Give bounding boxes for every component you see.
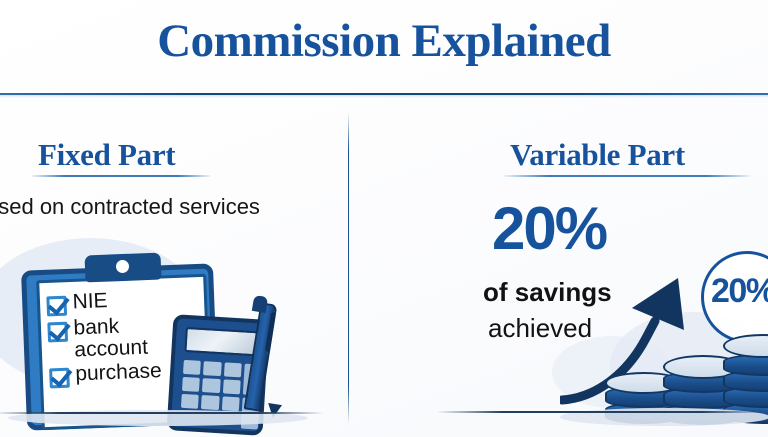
calculator-key — [223, 362, 241, 377]
variable-part-heading: Variable Part — [510, 137, 685, 173]
fixed-part-heading-underline — [32, 175, 210, 177]
calculator-key — [182, 377, 200, 392]
checklist-item-label: account — [74, 337, 148, 362]
checkbox-checked-icon[interactable] — [49, 368, 70, 389]
calculator-key — [201, 395, 219, 410]
fixed-part-heading: Fixed Part — [38, 137, 175, 173]
pen-cap — [252, 295, 268, 313]
infographic-canvas: Commission Explained Fixed Part ased on … — [0, 0, 768, 437]
header-divider-glow — [0, 95, 768, 98]
variable-part-heading-underline — [504, 175, 750, 177]
calculator-key — [203, 361, 221, 376]
percent-badge-label: 20% — [711, 272, 768, 311]
variable-percent-value: 20% — [492, 199, 606, 259]
calculator-key — [202, 378, 220, 393]
checkbox-checked-icon[interactable] — [46, 296, 67, 317]
checklist-item-label: NIE — [72, 290, 108, 314]
calculator-key — [221, 396, 239, 411]
checklist-item-label: purchase — [75, 360, 162, 386]
ground-line-right — [436, 411, 768, 413]
calculator-screen — [184, 327, 261, 357]
ground-line-left — [0, 412, 324, 414]
page-title: Commission Explained — [0, 14, 768, 68]
calculator-key — [181, 394, 199, 409]
fixed-part-subtitle: ased on contracted services — [0, 194, 260, 220]
calculator-key — [222, 379, 240, 394]
calculator-key — [183, 360, 201, 375]
checkbox-checked-icon[interactable] — [47, 322, 68, 343]
coin-top-face — [723, 334, 768, 358]
